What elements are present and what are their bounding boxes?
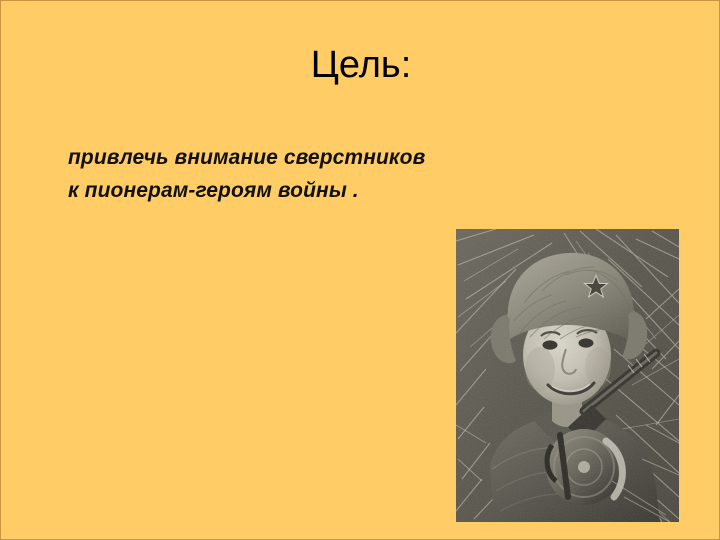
page-title: Цель: (1, 45, 720, 87)
body-text-block: привлечь внимание сверстников к пионерам… (68, 141, 498, 207)
photo-young-partisan-boy (456, 229, 679, 522)
body-text-line-1: привлечь внимание сверстников (68, 141, 498, 174)
photo-illustration (456, 229, 679, 522)
body-text-line-2: к пионерам-героям войны . (68, 174, 498, 207)
slide: Цель: привлечь внимание сверстников к пи… (0, 0, 720, 540)
